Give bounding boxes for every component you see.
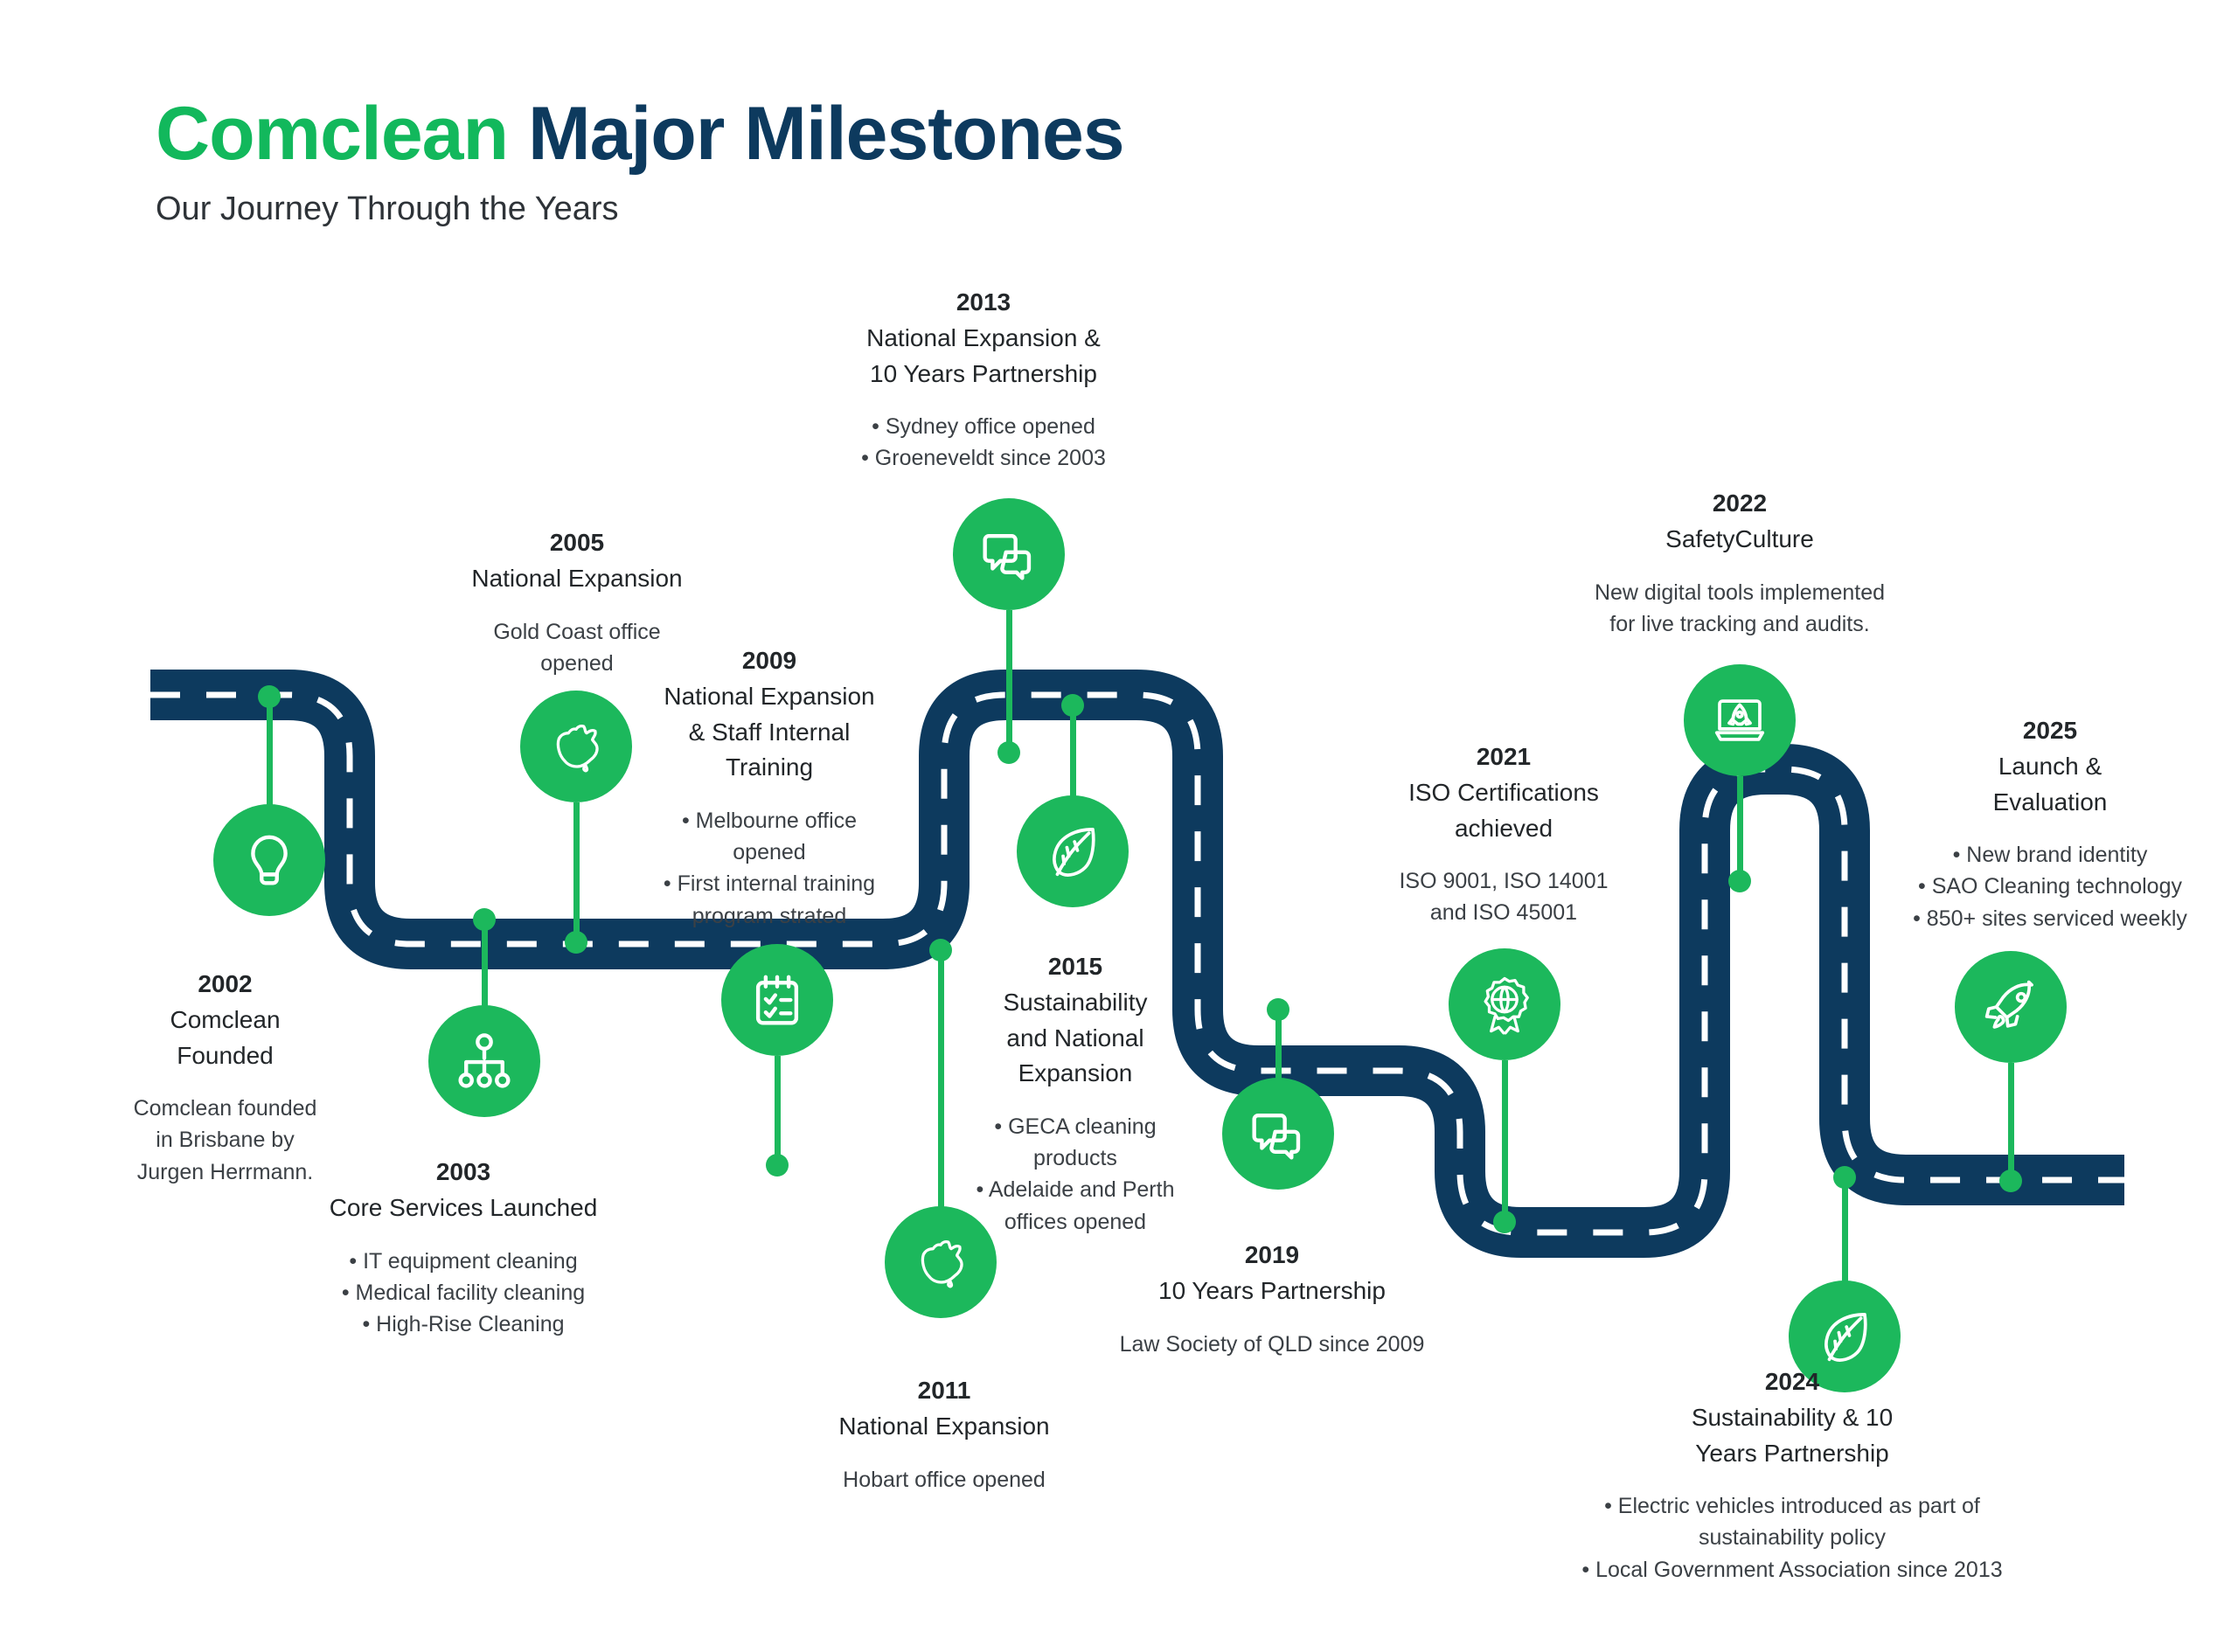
milestone-description: • IT equipment cleaning• Medical facilit… (288, 1246, 638, 1341)
milestone-year: 2015 (944, 948, 1206, 985)
leaf-icon[interactable] (1017, 795, 1129, 907)
laptop-rocket-icon[interactable] (1684, 664, 1796, 776)
milestone-2019: 2019 10 Years Partnership Law Society of… (1119, 1237, 1425, 1360)
milestone-heading: 10 Years Partnership (1119, 1274, 1425, 1309)
road-dot-2019 (1267, 998, 1289, 1021)
stem-2005 (573, 802, 580, 942)
milestone-description: New digital tools implementedfor live tr… (1539, 577, 1941, 641)
checklist-icon[interactable] (721, 944, 833, 1056)
milestone-2003: 2003 Core Services Launched • IT equipme… (288, 1154, 638, 1340)
chat-bubbles-icon[interactable] (1222, 1078, 1334, 1190)
stem-2003 (482, 918, 488, 1010)
org-chart-icon[interactable] (428, 1005, 540, 1117)
milestone-heading: National Expansion& Staff InternalTraini… (638, 679, 900, 786)
stem-2021 (1502, 1060, 1508, 1222)
milestone-year: 2011 (769, 1372, 1119, 1409)
stem-2022 (1737, 776, 1743, 881)
milestone-heading: Sustainabilityand NationalExpansion (944, 985, 1206, 1092)
milestone-2024: 2024 Sustainability & 10Years Partnershi… (1565, 1364, 2019, 1586)
infographic-canvas: Comclean Major Milestones Our Journey Th… (0, 0, 2238, 1652)
milestone-year: 2003 (288, 1154, 638, 1190)
road-dot-2003 (473, 908, 496, 931)
milestone-description: • Melbourne officeopened• First internal… (638, 805, 900, 932)
milestone-2021: 2021 ISO Certificationsachieved ISO 9001… (1373, 739, 1635, 929)
milestone-description: • GECA cleaningproducts• Adelaide and Pe… (944, 1111, 1206, 1238)
milestone-description: • Sydney office opened• Groeneveldt sinc… (835, 411, 1132, 475)
milestone-2025: 2025 Launch &Evaluation • New brand iden… (1866, 712, 2234, 934)
road-dot-2015 (1061, 694, 1084, 717)
road-dot-2009 (766, 1154, 789, 1177)
stem-2002 (267, 695, 273, 807)
milestone-heading: ComcleanFounded (114, 1003, 337, 1073)
chat-bubbles-icon[interactable] (953, 498, 1065, 610)
milestone-year: 2002 (114, 966, 337, 1003)
milestone-year: 2013 (835, 284, 1132, 321)
milestone-2009: 2009 National Expansion& Staff InternalT… (638, 642, 900, 932)
road-dot-2005 (565, 931, 587, 954)
stem-2025 (2008, 1063, 2014, 1181)
milestone-description: • New brand identity• SAO Cleaning techn… (1866, 839, 2234, 934)
australia-map-icon[interactable] (520, 691, 632, 802)
milestone-year: 2021 (1373, 739, 1635, 775)
milestone-heading: National Expansion (769, 1409, 1119, 1445)
lightbulb-icon[interactable] (213, 804, 325, 916)
road-dot-2013 (997, 741, 1020, 764)
milestone-2015: 2015 Sustainabilityand NationalExpansion… (944, 948, 1206, 1238)
milestone-description: Law Society of QLD since 2009 (1119, 1329, 1425, 1360)
milestone-heading: Sustainability & 10Years Partnership (1565, 1400, 2019, 1471)
stem-2009 (775, 1056, 781, 1165)
stem-2024 (1842, 1176, 1848, 1285)
milestone-year: 2005 (433, 524, 721, 561)
milestone-heading: Core Services Launched (288, 1190, 638, 1226)
rocket-icon[interactable] (1955, 951, 2067, 1063)
stem-2011 (938, 948, 944, 1211)
road-dot-2024 (1833, 1166, 1856, 1189)
milestone-heading: Launch &Evaluation (1866, 749, 2234, 820)
milestone-year: 2009 (638, 642, 900, 679)
globe-badge-icon[interactable] (1449, 948, 1560, 1060)
road-dot-2021 (1493, 1211, 1516, 1233)
milestone-2011: 2011 National Expansion Hobart office op… (769, 1372, 1119, 1496)
stem-2015 (1070, 704, 1076, 800)
milestone-2013: 2013 National Expansion &10 Years Partne… (835, 284, 1132, 475)
road-dot-2025 (1999, 1170, 2022, 1192)
milestone-2022: 2022 SafetyCulture New digital tools imp… (1539, 485, 1941, 640)
milestone-year: 2022 (1539, 485, 1941, 522)
milestone-heading: National Expansion (433, 561, 721, 597)
stem-2013 (1006, 610, 1012, 753)
milestone-description: • Electric vehicles introduced as part o… (1565, 1490, 2019, 1586)
milestone-heading: SafetyCulture (1539, 522, 1941, 558)
milestone-heading: ISO Certificationsachieved (1373, 775, 1635, 846)
milestone-year: 2019 (1119, 1237, 1425, 1274)
milestone-heading: National Expansion &10 Years Partnership (835, 321, 1132, 392)
road-dot-2022 (1728, 870, 1751, 892)
road-dot-2002 (258, 685, 281, 708)
milestone-year: 2025 (1866, 712, 2234, 749)
milestone-description: Hobart office opened (769, 1464, 1119, 1496)
milestone-year: 2024 (1565, 1364, 2019, 1400)
milestone-description: ISO 9001, ISO 14001and ISO 45001 (1373, 865, 1635, 929)
